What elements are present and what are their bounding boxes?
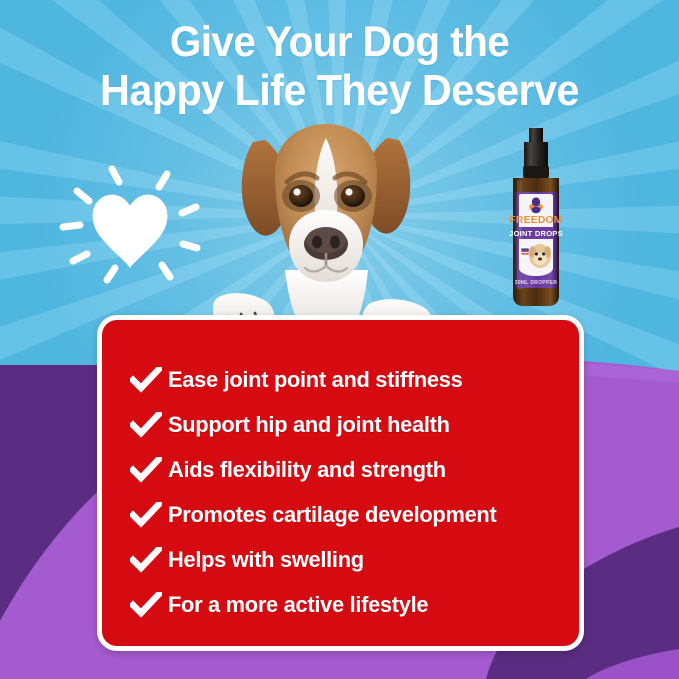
heart-icon	[93, 195, 168, 268]
benefits-list: Ease joint point and stiffness Support h…	[124, 358, 574, 626]
benefit-label: Helps with swelling	[168, 547, 364, 573]
benefits-panel: Ease joint point and stiffness Support h…	[97, 315, 584, 651]
benefit-label: Support hip and joint health	[168, 412, 450, 438]
checkmark-icon	[124, 408, 168, 442]
list-item: Promotes cartilage development	[124, 493, 574, 536]
list-item: Helps with swelling	[124, 538, 574, 581]
heart-sparkle-decoration	[55, 160, 205, 290]
checkmark-icon	[124, 453, 168, 487]
product-marketing-image: Give Your Dog the Happy Life They Deserv…	[0, 0, 679, 679]
checkmark-icon	[124, 363, 168, 397]
benefit-label: Ease joint point and stiffness	[168, 367, 462, 393]
list-item: Ease joint point and stiffness	[124, 358, 574, 401]
headline-line-2: Happy Life They Deserve	[20, 66, 658, 115]
page-title: Give Your Dog the Happy Life They Deserv…	[20, 18, 658, 115]
dropper-bottle: FREEDOM JOINT DROPS 30ML DROPPER	[493, 128, 579, 313]
list-item: For a more active lifestyle	[124, 583, 574, 626]
puppy-photo	[529, 244, 551, 268]
benefit-label: Promotes cartilage development	[168, 502, 496, 528]
list-item: Support hip and joint health	[124, 403, 574, 446]
benefit-label: Aids flexibility and strength	[168, 457, 446, 483]
checkmark-icon	[124, 498, 168, 532]
checkmark-icon	[124, 543, 168, 577]
checkmark-icon	[124, 588, 168, 622]
list-item: Aids flexibility and strength	[124, 448, 574, 491]
jack-russell-terrier-photo	[213, 120, 438, 340]
benefit-label: For a more active lifestyle	[168, 592, 428, 618]
headline-line-1: Give Your Dog the	[170, 18, 509, 66]
